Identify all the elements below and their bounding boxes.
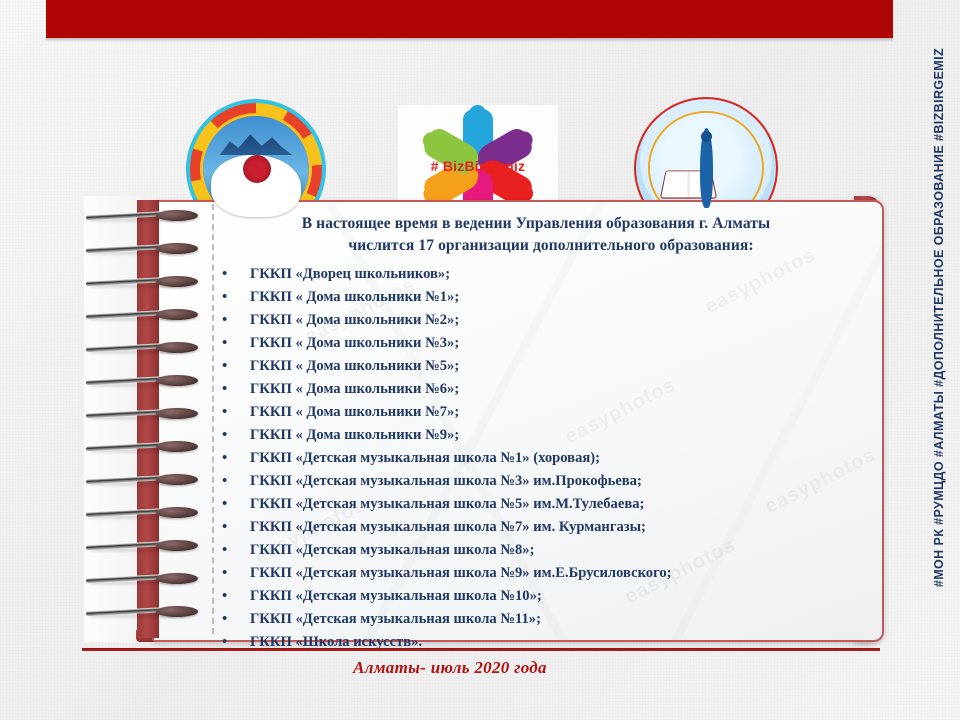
spiral-ring-bead — [156, 573, 198, 584]
list-item: ГККП «Детская музыкальная школа №7» им. … — [216, 516, 856, 539]
heading-line-2: числится 17 организации дополнительного … — [216, 235, 856, 257]
spiral-ring — [86, 342, 196, 353]
heading-line-1: В настоящее время в ведении Управления о… — [216, 213, 856, 235]
human-head-shape — [701, 131, 712, 142]
list-item: ГККП «Детская музыкальная школа №11»; — [216, 608, 856, 631]
spiral-ring — [86, 375, 196, 386]
logo-row: # BizBirgemiz — [0, 47, 900, 195]
top-red-banner — [46, 0, 893, 38]
spiral-ring — [86, 441, 196, 452]
spiral-ring — [86, 210, 196, 221]
spiral-ring-bead — [156, 408, 198, 419]
spiral-ring-bead — [156, 276, 198, 287]
list-item: ГККП «Детская музыкальная школа №9» им.Е… — [216, 562, 856, 585]
spiral-ring-bead — [156, 375, 198, 386]
spiral-ring — [86, 243, 196, 254]
spiral-ring-bead — [156, 243, 198, 254]
spiral-ring-bead — [156, 441, 198, 452]
footer-divider — [82, 648, 880, 651]
list-item: ГККП «Детская музыкальная школа №1» (хор… — [216, 447, 856, 470]
list-item: ГККП « Дома школьники №7»; — [216, 401, 856, 424]
list-item: ГККП «Детская музыкальная школа №8»; — [216, 539, 856, 562]
list-item: ГККП « Дома школьники №3»; — [216, 332, 856, 355]
list-item: ГККП «Детская музыкальная школа №10»; — [216, 585, 856, 608]
spiral-ring — [86, 606, 196, 617]
list-item: ГККП « Дома школьники №6»; — [216, 378, 856, 401]
top-banner-shadow — [46, 38, 893, 42]
person-head-blue — [469, 105, 486, 122]
footer-caption: Алматы- июль 2020 года — [0, 658, 900, 678]
bizbirgemiz-label: # BizBirgemiz — [398, 158, 558, 174]
list-item: ГККП «Дворец школьников»; — [216, 263, 856, 286]
slide-canvas: # BizBirgemiz В настоящее время в ведени… — [0, 0, 960, 720]
list-item: ГККП « Дома школьники №9»; — [216, 424, 856, 447]
side-hashtag-text: #МОН РК #РУМЦДО #АЛМАТЫ #ДОПОЛНИТЕЛЬНОЕ … — [932, 48, 946, 587]
spiral-ring — [86, 408, 196, 419]
spiral-ring — [86, 573, 196, 584]
spiral-ring-bead — [156, 342, 198, 353]
spiral-ring-bead — [156, 474, 198, 485]
spiral-ring — [86, 276, 196, 287]
spiral-ring — [86, 507, 196, 518]
list-item: ГККП «Детская музыкальная школа №3» им.П… — [216, 470, 856, 493]
list-item: ГККП « Дома школьники №5»; — [216, 355, 856, 378]
list-item: ГККП « Дома школьники №2»; — [216, 309, 856, 332]
mountain-shape — [220, 130, 293, 155]
spiral-ring-bead — [156, 210, 198, 221]
person-head-green — [420, 129, 443, 152]
spiral-ring — [86, 309, 196, 320]
list-item: ГККП «Детская музыкальная школа №5» им.М… — [216, 493, 856, 516]
spiral-ring-bead — [156, 507, 198, 518]
list-item: ГККП « Дома школьники №1»; — [216, 286, 856, 309]
content-block: В настоящее время в ведении Управления о… — [216, 213, 856, 654]
spiral-ring — [86, 474, 196, 485]
side-hashtag-strip: #МОН РК #РУМЦДО #АЛМАТЫ #ДОПОЛНИТЕЛЬНОЕ … — [914, 0, 954, 720]
organizations-list: ГККП «Дворец школьников»;ГККП « Дома шко… — [216, 263, 856, 654]
notebook-margin-rule — [212, 204, 214, 634]
spiral-ring-bead — [156, 309, 198, 320]
spiral-ring-bead — [156, 540, 198, 551]
spiral-ring — [86, 540, 196, 551]
person-head-purple — [512, 128, 535, 151]
spiral-ring-bead — [156, 606, 198, 617]
